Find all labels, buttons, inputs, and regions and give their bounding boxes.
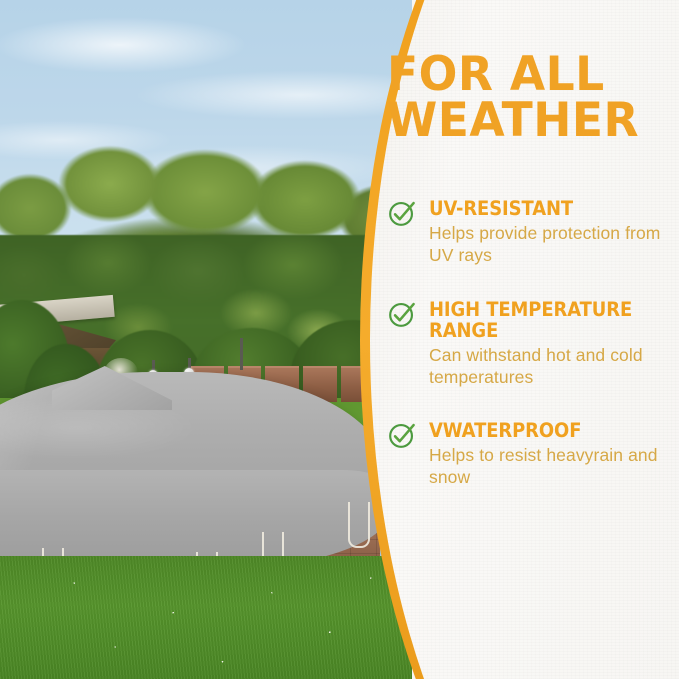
feature-title: VWATERPROOF: [429, 420, 650, 441]
feature-title: UV-RESISTANT: [429, 198, 650, 219]
feature-text: VWATERPROOF Helps to resist heavyrain an…: [429, 418, 669, 488]
page-title: FOR ALL WEATHER: [387, 52, 661, 144]
feature-item-waterproof: VWATERPROOF Helps to resist heavyrain an…: [387, 418, 669, 488]
feature-panel: FOR ALL WEATHER UV-RESISTANT Helps provi…: [359, 0, 679, 679]
product-photo: [0, 0, 412, 679]
feature-text: HIGH TEMPERATURE RANGE Can withstand hot…: [429, 297, 669, 389]
feature-text: UV-RESISTANT Helps provide protection fr…: [429, 196, 669, 266]
check-circle-icon: [387, 420, 417, 450]
feature-item-high-temperature-range: HIGH TEMPERATURE RANGE Can withstand hot…: [387, 297, 669, 389]
feature-title: HIGH TEMPERATURE RANGE: [429, 299, 650, 341]
feature-description: Helps to resist heavyrain and snow: [429, 444, 669, 488]
check-circle-icon: [387, 299, 417, 329]
feature-description: Can withstand hot and cold temperatures: [429, 344, 669, 388]
feature-list: UV-RESISTANT Helps provide protection fr…: [387, 196, 669, 489]
feature-item-uv-resistant: UV-RESISTANT Helps provide protection fr…: [387, 196, 669, 266]
headline-line-2: WEATHER: [387, 98, 661, 144]
foreground-lawn: [0, 556, 412, 679]
garden-lamp-post: [240, 338, 243, 370]
check-circle-icon: [387, 198, 417, 228]
promo-banner: FOR ALL WEATHER UV-RESISTANT Helps provi…: [0, 0, 679, 679]
feature-description: Helps provide protection from UV rays: [429, 222, 669, 266]
